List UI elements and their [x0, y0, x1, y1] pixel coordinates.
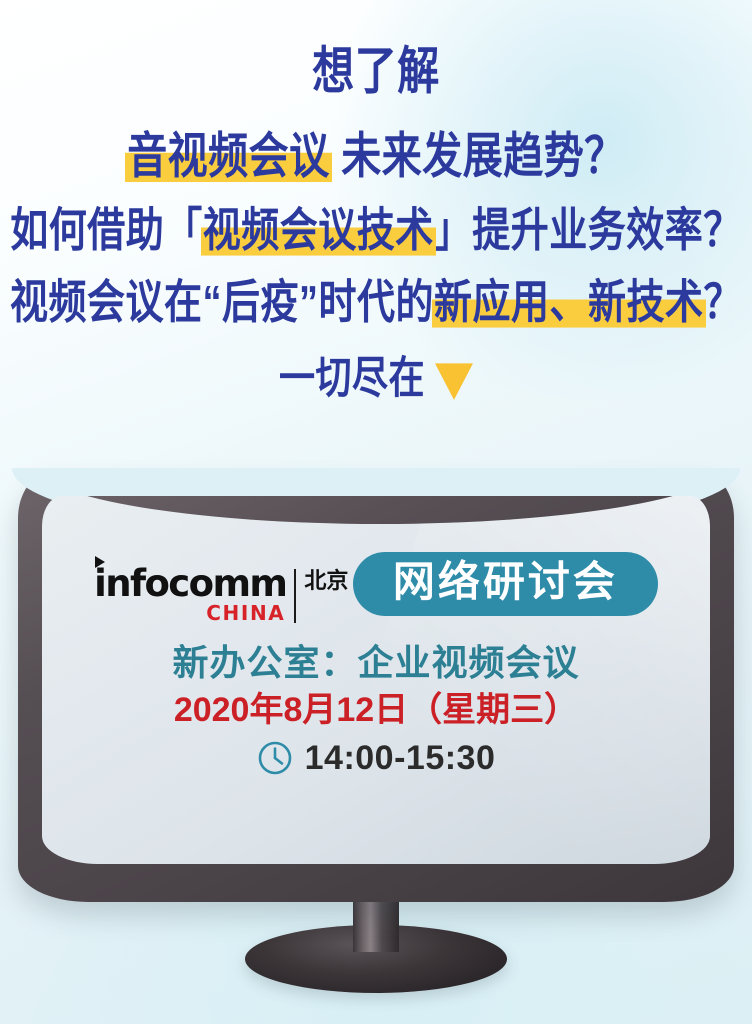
infocomm-logo: infocomm CHINA 北京 [94, 567, 348, 623]
headline-line-3: 如何借助「视频会议技术」提升业务效率？ [0, 208, 752, 254]
session-date: 2020年8月12日（星期三） [42, 691, 710, 730]
headline-line-3-prefix: 如何借助「 [10, 206, 203, 257]
monitor-illustration: infocomm CHINA 北京 网络研讨会 新办公室：企业视频会议 2020… [18, 472, 734, 902]
headline-line-2: 音视频会议 未来发展趋势？ [0, 132, 752, 181]
logo-divider [294, 569, 296, 623]
infocomm-logo-left: infocomm CHINA [94, 567, 286, 623]
webinar-badge: 网络研讨会 [353, 552, 658, 616]
infocomm-region-label: CHINA [94, 603, 286, 623]
headline-line-4-highlight: 新应用、新技术 [434, 280, 704, 326]
headline-line-1: 想了解 [0, 46, 752, 97]
headline-line-5-text: 一切尽在 [279, 352, 425, 402]
headline-line-1-text: 想了解 [312, 42, 440, 99]
headline-line-4-prefix: 视频会议在“后疫”时代的 [10, 278, 434, 329]
triangle-down-icon [435, 363, 473, 400]
headline-block: 想了解 音视频会议 未来发展趋势？ 如何借助「视频会议技术」提升业务效率？ 视频… [0, 0, 752, 392]
headline-line-3-suffix: 」提升业务效率？ [434, 206, 742, 257]
monitor-screen: infocomm CHINA 北京 网络研讨会 新办公室：企业视频会议 2020… [42, 496, 710, 864]
session-time: 14:00-15:30 [305, 741, 496, 775]
flag-triangle-icon [95, 556, 105, 568]
headline-line-4-suffix: ？ [704, 278, 743, 329]
headline-line-2-text: 未来发展趋势？ [330, 130, 625, 184]
headline-line-2-highlight: 音视频会议 [127, 132, 330, 181]
headline-line-5: 一切尽在 [0, 356, 752, 400]
screen-content: infocomm CHINA 北京 网络研讨会 新办公室：企业视频会议 2020… [42, 496, 710, 776]
session-title: 新办公室：企业视频会议 [42, 643, 710, 683]
clock-icon [257, 740, 293, 776]
headline-line-3-highlight: 视频会议技术 [203, 208, 434, 254]
infocomm-wordmark-text: infocomm [94, 562, 286, 605]
headline-line-4: 视频会议在“后疫”时代的新应用、新技术？ [0, 280, 752, 326]
infocomm-city-label: 北京 [304, 569, 348, 594]
session-time-row: 14:00-15:30 [42, 740, 710, 776]
infocomm-wordmark: infocomm [94, 567, 286, 601]
